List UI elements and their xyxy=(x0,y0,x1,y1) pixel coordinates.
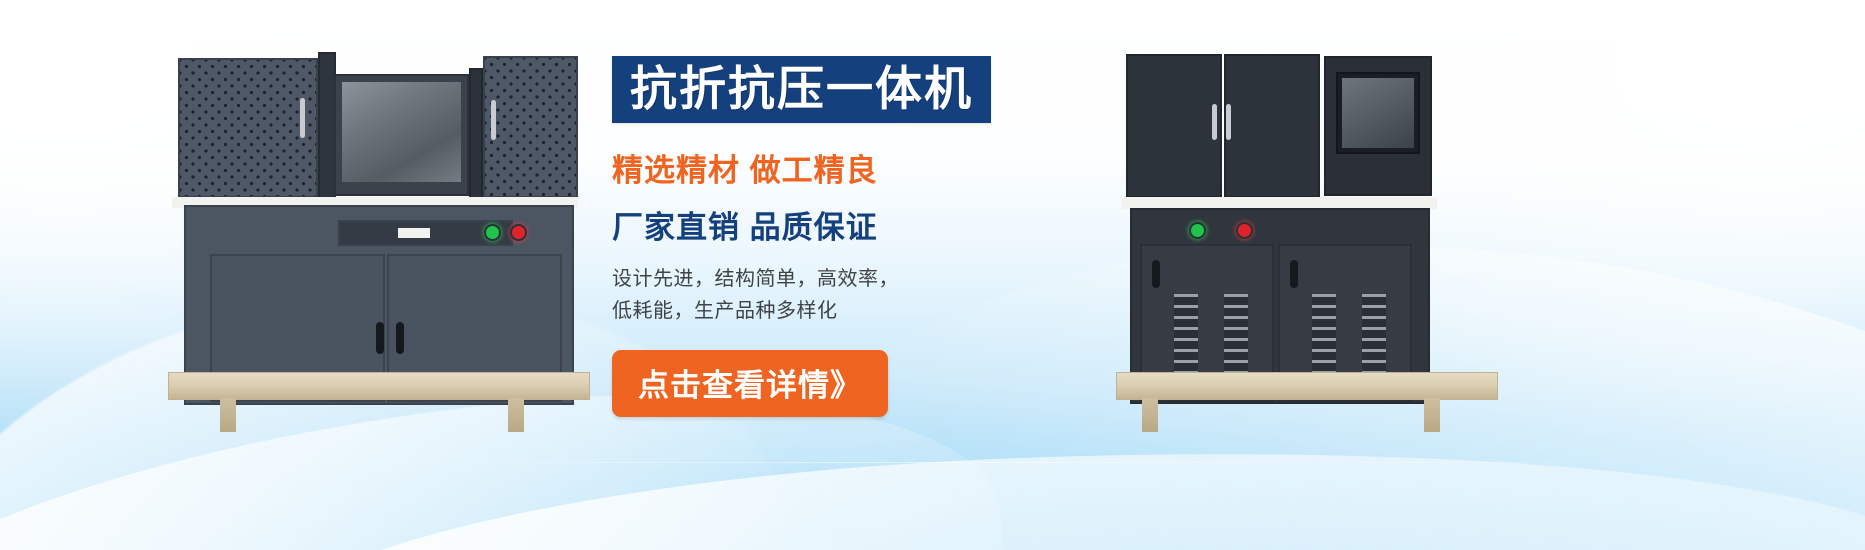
left-monitor-screen xyxy=(342,82,461,182)
left-wood-pallet xyxy=(168,372,590,400)
right-top-cabinet-handle-1 xyxy=(1212,104,1217,140)
left-right-top-cabinet-handle xyxy=(491,100,496,140)
right-wood-pallet xyxy=(1116,372,1498,400)
left-monitor-side xyxy=(469,68,483,200)
right-lower-door-handle-1 xyxy=(1152,260,1160,288)
tagline-secondary: 厂家直销 品质保证 xyxy=(612,202,1082,247)
banner-copy: 抗折抗压一体机 精选精材 做工精良 厂家直销 品质保证 设计先进，结构简单，高效… xyxy=(612,56,1082,417)
description-line-2: 低耗能，生产品种多样化 xyxy=(612,295,1082,327)
right-top-cabinet-door-1 xyxy=(1126,54,1222,198)
product-image-right xyxy=(1112,42,1502,442)
cta-button[interactable]: 点击查看详情》 xyxy=(612,350,888,417)
product-image-left xyxy=(168,42,588,442)
right-pallet-leg-2 xyxy=(1424,398,1440,432)
tagline-primary: 精选精材 做工精良 xyxy=(612,145,1082,190)
left-top-cabinet-handle xyxy=(300,98,305,138)
right-pallet-leg-1 xyxy=(1142,398,1158,432)
banner-title-bar: 抗折抗压一体机 xyxy=(612,56,991,123)
left-green-indicator xyxy=(484,224,501,241)
left-drawer-label xyxy=(398,228,430,238)
right-top-cabinet-handle-2 xyxy=(1226,104,1231,140)
description-line-1: 设计先进，结构简单，高效率， xyxy=(612,263,1082,295)
right-red-indicator xyxy=(1236,222,1253,239)
left-lower-door-handle-2 xyxy=(396,322,404,354)
left-right-top-cabinet-door xyxy=(483,56,578,198)
right-top-cabinet-door-2 xyxy=(1224,54,1320,198)
left-lower-door-handle-1 xyxy=(376,322,384,354)
background-highlight-line xyxy=(0,462,1865,463)
right-green-indicator xyxy=(1189,222,1206,239)
left-top-cabinet-door xyxy=(178,58,318,198)
left-red-indicator xyxy=(510,224,527,241)
right-lower-door-handle-2 xyxy=(1290,260,1298,288)
cta-button-label: 点击查看详情》 xyxy=(638,360,862,405)
right-monitor-screen xyxy=(1342,78,1414,148)
banner-title: 抗折抗压一体机 xyxy=(630,65,973,112)
promo-banner: 抗折抗压一体机 精选精材 做工精良 厂家直销 品质保证 设计先进，结构简单，高效… xyxy=(0,0,1865,550)
left-pallet-leg-2 xyxy=(508,398,524,432)
left-pallet-leg-1 xyxy=(220,398,236,432)
